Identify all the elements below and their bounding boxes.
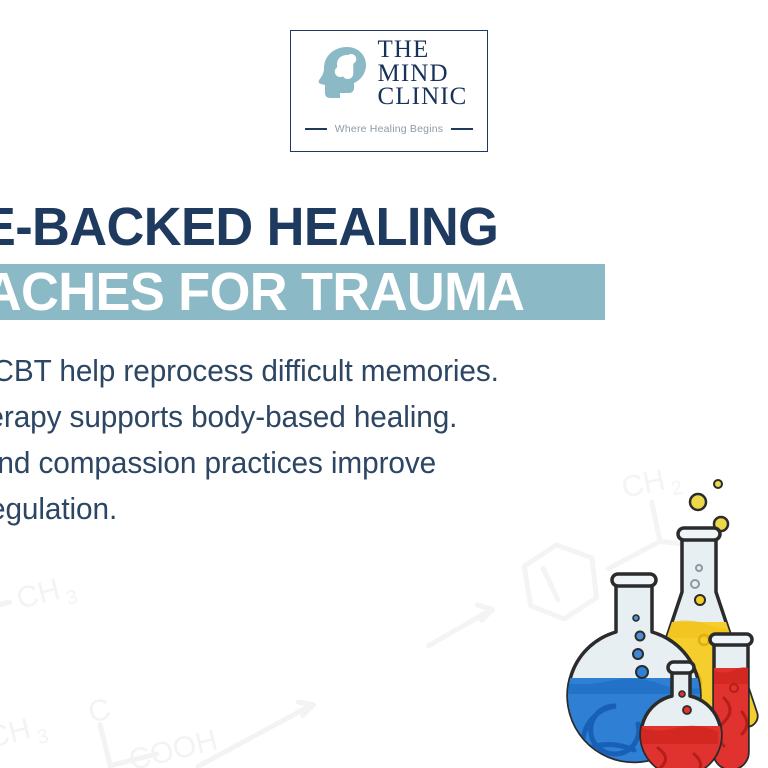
headline-block: ENCE-BACKED HEALING — [0, 196, 768, 258]
logo-word-mind: MIND — [378, 62, 468, 86]
laboratory-flasks-illustration — [554, 472, 768, 768]
poster-canvas: CH2 CH3 CH3 C COOH OH CH2 — [0, 0, 768, 768]
svg-text:C: C — [85, 692, 114, 729]
svg-text:2: 2 — [0, 540, 1, 564]
head-brain-icon — [317, 44, 371, 102]
svg-text:COOH: COOH — [126, 723, 221, 768]
logo-word-the: THE — [378, 38, 468, 62]
logo-wordmark: THE MIND CLINIC — [378, 38, 468, 109]
tagline-text: Where Healing Begins — [335, 123, 443, 135]
headline-line-1: ENCE-BACKED HEALING — [0, 196, 741, 258]
svg-text:CH: CH — [13, 573, 63, 616]
tagline-rule-right — [451, 128, 473, 130]
headline-line-2: PROACHES FOR TRAUMA — [0, 264, 583, 320]
logo-lockup: THE MIND CLINIC — [291, 31, 487, 113]
logo-word-clinic: CLINIC — [378, 85, 468, 109]
tagline-rule-left — [305, 128, 327, 130]
svg-text:3: 3 — [35, 725, 51, 749]
body-line-2: matic therapy supports body-based healin… — [0, 394, 733, 440]
svg-text:3: 3 — [64, 586, 80, 610]
logo-tagline: Where Healing Begins — [291, 123, 487, 135]
headline-highlight-band: PROACHES FOR TRAUMA — [0, 264, 605, 320]
svg-text:CH: CH — [0, 712, 34, 755]
body-line-1: DR and CBT help reprocess difficult memo… — [0, 348, 733, 394]
brand-logo[interactable]: THE MIND CLINIC Where Healing Begins — [290, 30, 488, 152]
